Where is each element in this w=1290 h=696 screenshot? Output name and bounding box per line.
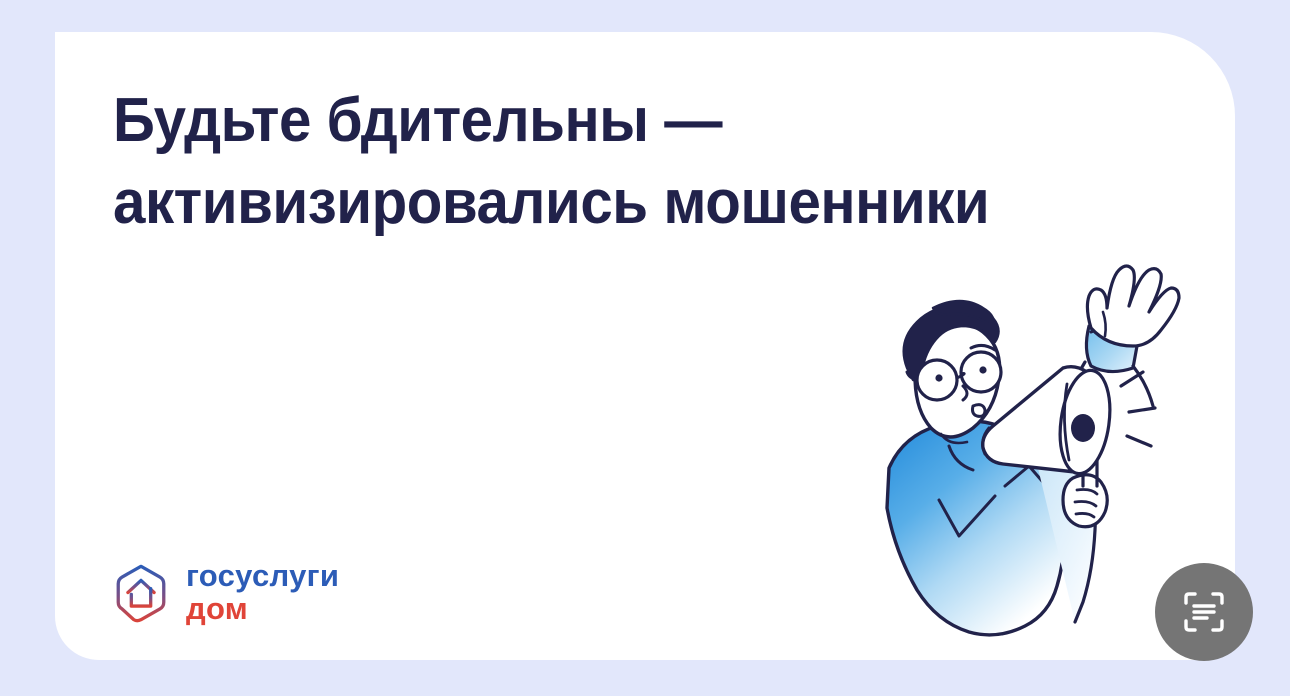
scan-text-button[interactable] xyxy=(1155,563,1253,661)
logo-word-gosuslugi: госуслуги xyxy=(186,561,339,591)
logo-word-dom: дом xyxy=(186,594,339,624)
gosuslugi-dom-house-hexagon-icon xyxy=(110,562,172,624)
scan-text-icon xyxy=(1180,588,1228,636)
page-title: Будьте бдительны — активизировались моше… xyxy=(113,80,1062,244)
screen-root: Будьте бдительны — активизировались моше… xyxy=(0,0,1290,696)
gosuslugi-dom-logo[interactable]: госуслуги дом xyxy=(110,561,339,624)
logo-wordmark: госуслуги дом xyxy=(186,561,339,624)
person-with-megaphone-illustration xyxy=(877,250,1207,650)
content-card: Будьте бдительны — активизировались моше… xyxy=(55,32,1235,660)
